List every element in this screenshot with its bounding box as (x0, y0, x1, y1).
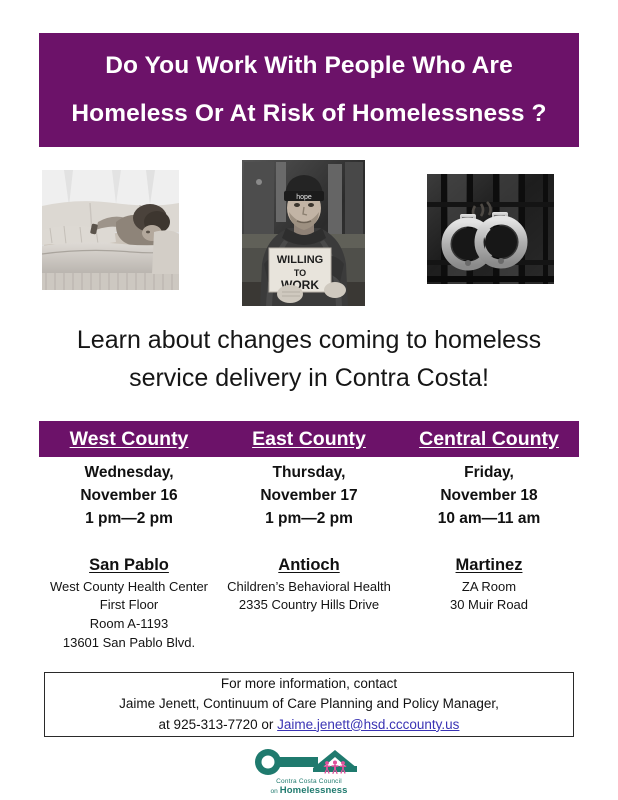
svg-text:TO: TO (294, 268, 306, 278)
schedule-day-central: Friday, (401, 462, 577, 485)
subtitle: Learn about changes coming to homeless s… (39, 322, 579, 397)
schedule-date-central: November 18 (401, 485, 577, 508)
schedule-address-line: First Floor (41, 596, 217, 615)
contact-line-3: at 925-313-7720 or Jaime.jenett@hsd.ccco… (159, 715, 460, 736)
schedule-column-east: Thursday, November 17 1 pm—2 pm Antioch … (219, 462, 399, 652)
county-name-east: East County (252, 428, 366, 451)
photo-handcuffs-on-jail-bars (419, 168, 562, 290)
contact-line-1: For more information, contact (221, 674, 397, 695)
schedule-city-west: San Pablo (41, 556, 217, 575)
subtitle-line-1: Learn about changes coming to homeless (39, 322, 579, 360)
schedule-address-line: Room A-1193 (41, 615, 217, 634)
schedule-where-central: Martinez ZA Room 30 Muir Road (401, 556, 577, 615)
header-line-1: Do You Work With People Who Are (105, 52, 513, 80)
schedule-date-west: November 16 (41, 485, 217, 508)
schedule-when-east: Thursday, November 17 1 pm—2 pm (221, 462, 397, 531)
header-banner: Do You Work With People Who Are Homeless… (39, 33, 579, 147)
schedule-address-line: ZA Room (401, 578, 577, 597)
schedule-where-west: San Pablo West County Health Center Firs… (41, 556, 217, 652)
beanie-hope-text: hope (296, 194, 312, 201)
header-line-2: Homeless Or At Risk of Homelessness ? (71, 100, 546, 128)
schedule-city-east: Antioch (221, 556, 397, 575)
county-header-central: Central County (399, 428, 579, 451)
county-header-east: East County (219, 428, 399, 451)
key-house-icon (253, 748, 365, 778)
schedule-when-west: Wednesday, November 16 1 pm—2 pm (41, 462, 217, 531)
schedule-columns: Wednesday, November 16 1 pm—2 pm San Pab… (39, 462, 579, 652)
logo-text-bottom: on Homelessness (270, 786, 347, 796)
schedule-time-central: 10 am—11 am (401, 508, 577, 531)
schedule-column-west: Wednesday, November 16 1 pm—2 pm San Pab… (39, 462, 219, 652)
county-name-west: West County (70, 428, 189, 451)
schedule-column-central: Friday, November 18 10 am—11 am Martinez… (399, 462, 579, 652)
county-header-west: West County (39, 428, 219, 451)
schedule-address-line: Children’s Behavioral Health (221, 578, 397, 597)
schedule-date-east: November 17 (221, 485, 397, 508)
flyer-page: Do You Work With People Who Are Homeless… (0, 0, 618, 800)
schedule-where-east: Antioch Children’s Behavioral Health 233… (221, 556, 397, 615)
photo-man-holding-willing-to-work-sign: hope WILLING TO WORK (242, 160, 365, 306)
schedule-day-east: Thursday, (221, 462, 397, 485)
photo-row: hope WILLING TO WORK (39, 160, 579, 310)
schedule-address-line: 30 Muir Road (401, 596, 577, 615)
contact-line-2: Jaime Jenett, Continuum of Care Planning… (119, 694, 499, 715)
logo-text-on: on (270, 788, 279, 795)
logo-text-homelessness: Homelessness (280, 785, 348, 796)
logo-text: Contra Costa Council on Homelessness (270, 779, 347, 795)
contact-email-link[interactable]: Jaime.jenett@hsd.cccounty.us (277, 717, 459, 732)
schedule-day-west: Wednesday, (41, 462, 217, 485)
photo-person-sleeping-on-couch (42, 170, 179, 290)
schedule-city-central: Martinez (401, 556, 577, 575)
svg-text:WILLING: WILLING (277, 254, 323, 266)
schedule-address-line: 13601 San Pablo Blvd. (41, 634, 217, 653)
county-header-bar: West County East County Central County (39, 421, 579, 457)
schedule-when-central: Friday, November 18 10 am—11 am (401, 462, 577, 531)
subtitle-line-2: service delivery in Contra Costa! (39, 360, 579, 398)
schedule-time-east: 1 pm—2 pm (221, 508, 397, 531)
willing-to-work-sign: WILLING TO WORK (269, 248, 331, 292)
logo: Contra Costa Council on Homelessness (0, 748, 618, 795)
county-name-central: Central County (419, 428, 559, 451)
schedule-address-line: West County Health Center (41, 578, 217, 597)
contact-box: For more information, contact Jaime Jene… (44, 672, 574, 737)
schedule-address-line: 2335 Country Hills Drive (221, 596, 397, 615)
schedule-time-west: 1 pm—2 pm (41, 508, 217, 531)
contact-phone-text: at 925-313-7720 or (159, 717, 278, 732)
